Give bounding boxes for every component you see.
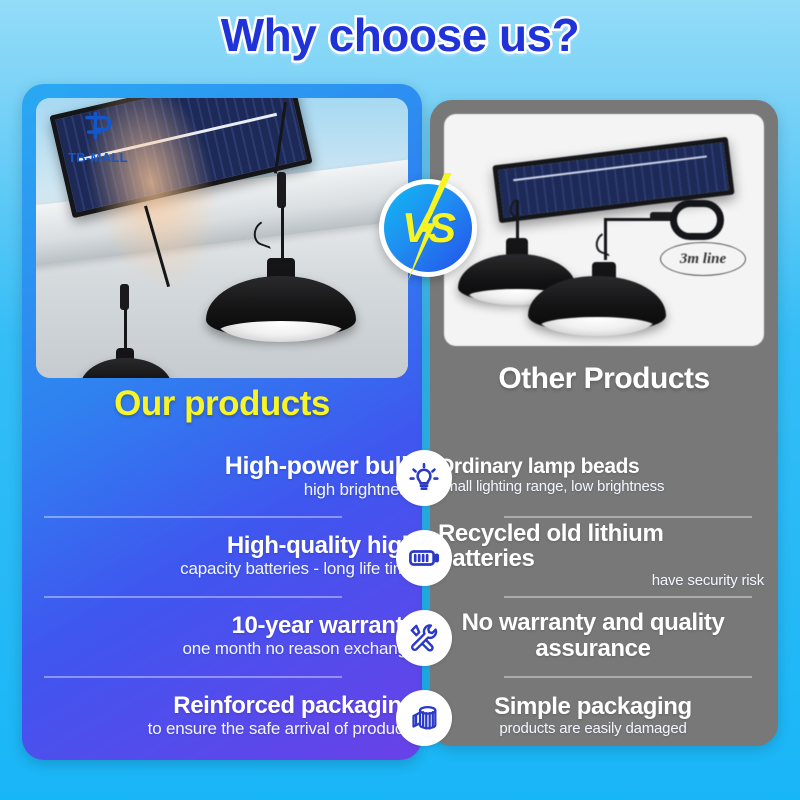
other-products-feature-list: Ordinary lamp beads small lighting range… xyxy=(430,436,778,746)
three-meter-line-annotation: 3m line xyxy=(660,242,746,276)
our-products-feature-list: High-power bulb high brightness High-qua… xyxy=(22,436,422,756)
feature-text: Simple packaging products are easily dam… xyxy=(430,695,778,738)
our-product-image[interactable]: TB-MALL xyxy=(36,98,408,378)
brand-logo: TB-MALL xyxy=(50,110,146,165)
other-products-panel: 3m line Other Products Ordinary lamp bea… xyxy=(430,100,778,746)
feature-icon-bubble-packaging xyxy=(396,690,452,746)
other-products-heading: Other Products xyxy=(440,362,768,396)
lightbulb-icon xyxy=(407,461,441,495)
our-products-heading: Our products xyxy=(36,384,408,424)
feature-subtitle: have security risk xyxy=(438,573,764,590)
feature-subtitle: one month no reason exchange xyxy=(36,639,416,658)
feature-text: Reinforced packaging to ensure the safe … xyxy=(22,694,422,739)
tools-icon xyxy=(407,621,441,655)
feature-subtitle: products are easily damaged xyxy=(438,721,748,738)
feature-title: Recycled old lithium batteries xyxy=(438,522,764,572)
feature-text: High-power bulb high brightness xyxy=(22,453,422,499)
page-title: Why choose us? xyxy=(221,8,579,62)
feature-title: Reinforced packaging xyxy=(36,694,416,719)
solar-panel-stripe xyxy=(513,155,707,181)
feature-row[interactable]: Ordinary lamp beads small lighting range… xyxy=(430,436,778,516)
feature-title: High-power bulb xyxy=(36,453,416,479)
feature-subtitle: capacity batteries - long life time xyxy=(36,559,416,578)
feature-title: Simple packaging xyxy=(438,695,748,720)
feature-icon-bubble-battery xyxy=(396,530,452,586)
feature-icon-bubble-tools xyxy=(396,610,452,666)
packaging-roll-icon xyxy=(407,701,441,735)
our-products-panel: TB-MALL Our products High-power bulb hig… xyxy=(22,84,422,760)
feature-text: Ordinary lamp beads small lighting range… xyxy=(430,456,778,496)
feature-subtitle: to ensure the safe arrival of products xyxy=(36,719,416,738)
other-product-image[interactable]: 3m line xyxy=(444,114,764,346)
feature-row[interactable]: Simple packaging products are easily dam… xyxy=(430,676,778,746)
lamp-cord-right xyxy=(281,206,284,262)
infographic-page: Why choose us? xyxy=(0,0,800,800)
feature-text: Recycled old lithium batteries have secu… xyxy=(430,522,778,590)
feature-title: High-quality high xyxy=(36,534,416,559)
battery-icon xyxy=(407,541,441,575)
feature-icon-bubble-bulb xyxy=(396,450,452,506)
feature-row[interactable]: 10-year warranty one month no reason exc… xyxy=(22,596,422,676)
brand-name: TB-MALL xyxy=(50,150,146,165)
feature-row[interactable]: High-quality high capacity batteries - l… xyxy=(22,516,422,596)
lamp-connector-right xyxy=(277,172,286,208)
feature-title: No warranty and quality assurance xyxy=(438,610,748,662)
feature-row[interactable]: Recycled old lithium batteries have secu… xyxy=(430,516,778,596)
lamp-lead-right xyxy=(604,218,654,221)
feature-row[interactable]: High-power bulb high brightness xyxy=(22,436,422,516)
feature-subtitle: small lighting range, low brightness xyxy=(438,479,764,496)
lamp-connector-left xyxy=(120,284,129,310)
feature-text: 10-year warranty one month no reason exc… xyxy=(22,614,422,659)
feature-subtitle: high brightness xyxy=(36,480,416,499)
lamp-hook-icon-2 xyxy=(593,230,617,257)
vs-badge: VS xyxy=(379,179,477,277)
feature-row[interactable]: Reinforced packaging to ensure the safe … xyxy=(22,676,422,756)
feature-title: 10-year warranty xyxy=(36,614,416,639)
feature-text: No warranty and quality assurance xyxy=(430,610,778,663)
feature-text: High-quality high capacity batteries - l… xyxy=(22,534,422,579)
tb-mall-mark-icon xyxy=(81,110,115,144)
coiled-cable xyxy=(670,200,724,240)
feature-title: Ordinary lamp beads xyxy=(438,456,764,478)
feature-row[interactable]: No warranty and quality assurance xyxy=(430,596,778,676)
page-title-wrapper: Why choose us? xyxy=(0,8,800,62)
